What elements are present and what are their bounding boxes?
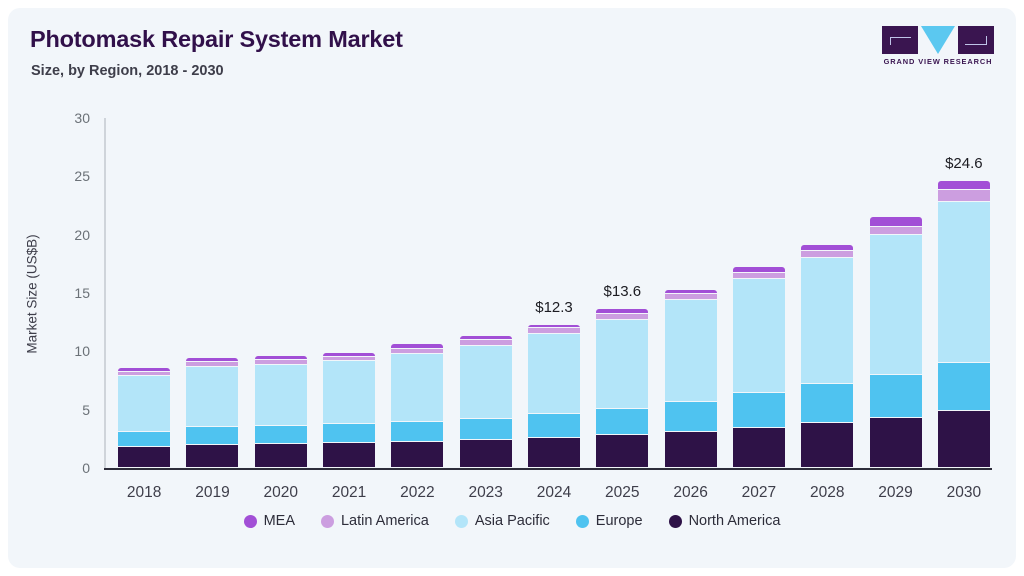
logo-marks xyxy=(882,26,994,54)
chart-card: Photomask Repair System Market Size, by … xyxy=(8,8,1016,568)
bar-segment-north-america[interactable] xyxy=(323,443,375,468)
bar-chart-plot: Market Size (US$B) 051015202530 20182019… xyxy=(104,118,992,470)
logo-right-block-icon xyxy=(958,26,994,54)
bar-segment-europe[interactable] xyxy=(938,363,990,411)
bar-segment-latin-america[interactable] xyxy=(870,227,922,235)
bar-segment-mea[interactable] xyxy=(870,217,922,226)
bar-segment-asia-pacific[interactable] xyxy=(460,346,512,420)
x-axis-tick-label: 2027 xyxy=(742,484,776,502)
x-axis-tick-label: 2019 xyxy=(195,484,229,502)
legend-swatch-icon xyxy=(576,515,589,528)
bar-segment-north-america[interactable] xyxy=(118,447,170,468)
legend-swatch-icon xyxy=(669,515,682,528)
y-axis-tick-label: 0 xyxy=(82,460,90,476)
page-subtitle: Size, by Region, 2018 - 2030 xyxy=(31,63,224,79)
brand-logo: GRAND VIEW RESEARCH xyxy=(882,26,994,70)
x-axis-tick-label: 2028 xyxy=(810,484,844,502)
bar-stack[interactable] xyxy=(460,336,512,468)
bar-segment-latin-america[interactable] xyxy=(938,190,990,202)
y-axis-tick-label: 15 xyxy=(74,285,90,301)
bar-segment-mea[interactable] xyxy=(938,181,990,190)
bar-segment-europe[interactable] xyxy=(118,432,170,447)
legend-swatch-icon xyxy=(244,515,257,528)
legend-item-mea[interactable]: MEA xyxy=(244,513,295,529)
logo-wordmark: GRAND VIEW RESEARCH xyxy=(882,57,994,66)
bar-value-label: $24.6 xyxy=(945,155,983,172)
x-axis-tick-label: 2030 xyxy=(947,484,981,502)
bar-stack[interactable] xyxy=(255,356,307,468)
bar-segment-europe[interactable] xyxy=(255,426,307,444)
bar-segment-asia-pacific[interactable] xyxy=(733,279,785,393)
bar-segment-north-america[interactable] xyxy=(460,440,512,468)
legend-label: MEA xyxy=(264,513,295,529)
x-axis-tick-label: 2025 xyxy=(605,484,639,502)
legend-label: North America xyxy=(689,513,781,529)
x-axis-tick-label: 2020 xyxy=(264,484,298,502)
bar-segment-asia-pacific[interactable] xyxy=(528,334,580,415)
bar-stack[interactable]: $13.6 xyxy=(596,309,648,468)
bar-segment-europe[interactable] xyxy=(186,427,238,445)
bar-stack[interactable]: $12.3 xyxy=(528,325,580,469)
bar-segment-europe[interactable] xyxy=(801,384,853,423)
bar-segment-north-america[interactable] xyxy=(186,445,238,468)
bar-segment-north-america[interactable] xyxy=(665,432,717,468)
bar-stack[interactable] xyxy=(391,344,443,468)
x-axis-tick-label: 2029 xyxy=(878,484,912,502)
bar-segment-asia-pacific[interactable] xyxy=(870,235,922,375)
legend-label: Europe xyxy=(596,513,643,529)
bar-stack[interactable] xyxy=(733,267,785,468)
x-axis-tick-label: 2023 xyxy=(468,484,502,502)
bar-segment-asia-pacific[interactable] xyxy=(938,202,990,363)
y-axis-line xyxy=(104,118,106,470)
bar-segment-europe[interactable] xyxy=(733,393,785,428)
bar-segment-north-america[interactable] xyxy=(938,411,990,468)
logo-left-notch-icon xyxy=(890,37,911,45)
x-axis-tick-label: 2024 xyxy=(537,484,571,502)
chart-legend: MEALatin AmericaAsia PacificEuropeNorth … xyxy=(8,513,1016,529)
legend-label: Latin America xyxy=(341,513,429,529)
bar-stack[interactable] xyxy=(323,353,375,469)
bar-segment-north-america[interactable] xyxy=(528,438,580,468)
bar-segment-north-america[interactable] xyxy=(255,444,307,468)
bar-stack[interactable] xyxy=(665,290,717,469)
bar-segment-asia-pacific[interactable] xyxy=(391,354,443,422)
bar-segment-europe[interactable] xyxy=(391,422,443,442)
bar-segment-asia-pacific[interactable] xyxy=(323,361,375,424)
x-axis-tick-label: 2021 xyxy=(332,484,366,502)
bar-segment-europe[interactable] xyxy=(460,419,512,440)
bar-segment-europe[interactable] xyxy=(665,402,717,433)
legend-item-asia-pacific[interactable]: Asia Pacific xyxy=(455,513,550,529)
bar-segment-asia-pacific[interactable] xyxy=(118,376,170,433)
bar-stack[interactable]: $24.6 xyxy=(938,181,990,468)
legend-swatch-icon xyxy=(321,515,334,528)
bar-stack[interactable] xyxy=(118,368,170,468)
x-axis-line xyxy=(104,468,992,470)
y-axis-tick-label: 5 xyxy=(82,402,90,418)
logo-right-notch-icon xyxy=(965,36,987,45)
bar-segment-europe[interactable] xyxy=(528,414,580,437)
x-axis-tick-label: 2018 xyxy=(127,484,161,502)
bar-segment-asia-pacific[interactable] xyxy=(801,258,853,384)
legend-item-europe[interactable]: Europe xyxy=(576,513,643,529)
y-axis-tick-label: 20 xyxy=(74,227,90,243)
y-axis-tick-label: 10 xyxy=(74,343,90,359)
bar-segment-europe[interactable] xyxy=(323,424,375,443)
y-axis-label: Market Size (US$B) xyxy=(25,234,40,353)
bar-value-label: $12.3 xyxy=(535,299,573,316)
bar-segment-north-america[interactable] xyxy=(596,435,648,468)
legend-item-latin-america[interactable]: Latin America xyxy=(321,513,429,529)
bar-segment-asia-pacific[interactable] xyxy=(186,367,238,428)
bar-segment-asia-pacific[interactable] xyxy=(596,320,648,409)
bar-stack[interactable] xyxy=(870,217,922,468)
legend-item-north-america[interactable]: North America xyxy=(669,513,781,529)
bar-segment-europe[interactable] xyxy=(870,375,922,418)
bar-segment-latin-america[interactable] xyxy=(801,251,853,258)
page-title: Photomask Repair System Market xyxy=(30,26,403,53)
y-axis-tick-label: 30 xyxy=(74,110,90,126)
logo-triangle-icon xyxy=(921,26,955,54)
bar-segment-north-america[interactable] xyxy=(733,428,785,468)
bar-segment-north-america[interactable] xyxy=(391,442,443,468)
bar-segment-asia-pacific[interactable] xyxy=(665,300,717,402)
bar-segment-north-america[interactable] xyxy=(801,423,853,468)
bar-value-label: $13.6 xyxy=(604,283,642,300)
x-axis-tick-label: 2026 xyxy=(673,484,707,502)
bar-stack[interactable] xyxy=(801,245,853,468)
bar-segment-asia-pacific[interactable] xyxy=(255,365,307,426)
logo-left-block-icon xyxy=(882,26,918,54)
bar-segment-europe[interactable] xyxy=(596,409,648,436)
bar-segment-north-america[interactable] xyxy=(870,418,922,468)
x-axis-tick-label: 2022 xyxy=(400,484,434,502)
y-axis-tick-label: 25 xyxy=(74,168,90,184)
legend-swatch-icon xyxy=(455,515,468,528)
bar-stack[interactable] xyxy=(186,358,238,468)
legend-label: Asia Pacific xyxy=(475,513,550,529)
